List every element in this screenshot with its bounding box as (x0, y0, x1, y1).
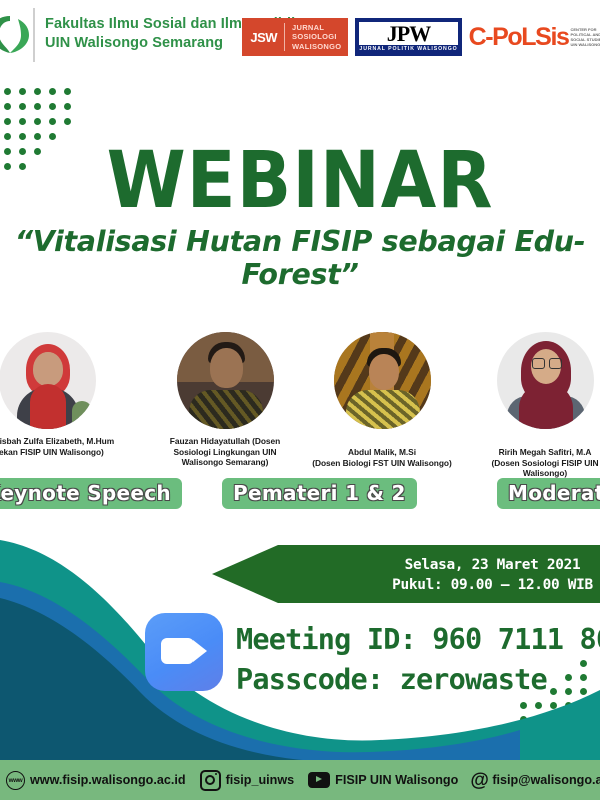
speaker-photo-1 (0, 332, 96, 429)
speaker-name-3: Abdul Malik, M.Si (307, 447, 457, 458)
uin-walisongo-logo-icon (0, 12, 32, 56)
jpw-logo: JPW JURNAL POLITIK WALISONGO (355, 18, 461, 56)
decor-dot (64, 88, 71, 95)
www-icon: www (6, 771, 25, 790)
jpw-mark: JPW (359, 22, 457, 45)
jsw-logo-divider (284, 23, 285, 51)
event-time: Pukul: 09.00 – 12.00 WIB (390, 575, 595, 595)
footer-email[interactable]: @ fisip@walisongo.ac.id (470, 772, 600, 789)
speaker-card-2: Fauzan Hidayatullah (Dosen Sosiologi Lin… (150, 332, 300, 468)
decor-dot (4, 163, 11, 170)
jsw-mark: JSW (250, 30, 277, 45)
decor-dot (4, 118, 11, 125)
footer-email-label: fisip@walisongo.ac.id (492, 773, 600, 787)
speaker-name-4: Ririh Megah Safitri, M.A (470, 447, 600, 458)
decor-dot (49, 88, 56, 95)
role-badge-moderator: Moderator (497, 478, 600, 509)
speaker-photo-3 (334, 332, 431, 429)
email-at-icon: @ (470, 772, 487, 789)
footer-website[interactable]: www www.fisip.walisongo.ac.id (6, 771, 186, 790)
meeting-passcode: Passcode: zerowaste (236, 660, 600, 700)
decor-dot (49, 103, 56, 110)
footer-instagram[interactable]: fisip_uinws (200, 770, 295, 791)
zoom-credentials: Meeting ID: 960 7111 8615 Passcode: zero… (236, 620, 600, 700)
cpolsis-logo: C-PoLSis CENTER FOR POLITICAL AND SOCIAL… (469, 23, 600, 52)
meeting-id: Meeting ID: 960 7111 8615 (236, 620, 600, 660)
speaker-name-1: Hj. Misbah Zulfa Elizabeth, M.Hum (0, 436, 122, 447)
decor-dot (19, 133, 26, 140)
speaker-affiliation-1: (Dekan FISIP UIN Walisongo) (0, 447, 122, 458)
speaker-name-2: Fauzan Hidayatullah (Dosen (150, 436, 300, 447)
speaker-photo-2 (177, 332, 274, 429)
decor-dot (4, 103, 11, 110)
speakers-section: Hj. Misbah Zulfa Elizabeth, M.Hum (Dekan… (0, 332, 600, 517)
decor-dot (34, 103, 41, 110)
cpolsis-wordmark: C-PoLSis (469, 23, 569, 52)
role-badge-keynote: Keynote Speech (0, 478, 182, 509)
page-subtitle: “Vitalisasi Hutan FISIP sebagai Edu-Fore… (0, 225, 600, 291)
speaker-affiliation-2: Sosiologi Lingkungan UIN Walisongo Semar… (150, 447, 300, 468)
decor-dot (19, 118, 26, 125)
partner-logos: JSW JURNAL SOSIOLOGI WALISONGO JPW JURNA… (242, 18, 600, 56)
page-title: WEBINAR (24, 140, 576, 222)
decor-dot (19, 103, 26, 110)
decor-dot (34, 133, 41, 140)
zoom-icon (145, 613, 223, 691)
header-divider (33, 8, 35, 62)
poster-header: Fakultas Ilmu Sosial dan Ilmu Politik UI… (0, 0, 600, 78)
speaker-affiliation-3: (Dosen Biologi FST UIN Walisongo) (307, 458, 457, 469)
jpw-subtitle: JURNAL POLITIK WALISONGO (359, 45, 457, 52)
speaker-card-1: Hj. Misbah Zulfa Elizabeth, M.Hum (Dekan… (0, 332, 122, 457)
event-datetime: Selasa, 23 Maret 2021 Pukul: 09.00 – 12.… (390, 555, 595, 595)
cpolsis-tagline: CENTER FOR POLITICAL AND SOCIAL STUDIES … (571, 27, 600, 47)
jsw-wordmark: JURNAL SOSIOLOGI WALISONGO (292, 23, 341, 52)
footer-youtube[interactable]: FISIP UIN Walisongo (308, 772, 458, 788)
youtube-icon (308, 772, 330, 788)
footer-youtube-label: FISIP UIN Walisongo (335, 773, 458, 787)
cpolsis-tiny-4: UIN WALISONGO (571, 42, 600, 47)
decor-dot (64, 118, 71, 125)
decor-dot (34, 88, 41, 95)
jsw-word-2: SOSIOLOGI (292, 32, 341, 42)
decor-dot (4, 148, 11, 155)
decor-dot (4, 133, 11, 140)
instagram-icon (200, 770, 221, 791)
speaker-card-3: Abdul Malik, M.Si (Dosen Biologi FST UIN… (307, 332, 457, 468)
decor-dot (64, 103, 71, 110)
jsw-word-3: WALISONGO (292, 42, 341, 52)
jsw-word-1: JURNAL (292, 23, 341, 33)
decor-dot (34, 118, 41, 125)
footer-bar: www www.fisip.walisongo.ac.id fisip_uinw… (0, 760, 600, 800)
decor-dot (49, 133, 56, 140)
footer-instagram-label: fisip_uinws (226, 773, 295, 787)
decor-dot (49, 118, 56, 125)
speaker-affiliation-4: (Dosen Sosiologi FISIP UIN Walisongo) (470, 458, 600, 479)
webinar-poster: Fakultas Ilmu Sosial dan Ilmu Politik UI… (0, 0, 600, 800)
decor-dot (4, 88, 11, 95)
event-date: Selasa, 23 Maret 2021 (390, 555, 595, 575)
role-badge-pemateri: Pemateri 1 & 2 (222, 478, 417, 509)
speaker-photo-4 (497, 332, 594, 429)
decor-dot (19, 88, 26, 95)
speaker-card-4: Ririh Megah Safitri, M.A (Dosen Sosiolog… (470, 332, 600, 479)
footer-website-label: www.fisip.walisongo.ac.id (30, 773, 186, 787)
jsw-logo: JSW JURNAL SOSIOLOGI WALISONGO (242, 18, 348, 56)
